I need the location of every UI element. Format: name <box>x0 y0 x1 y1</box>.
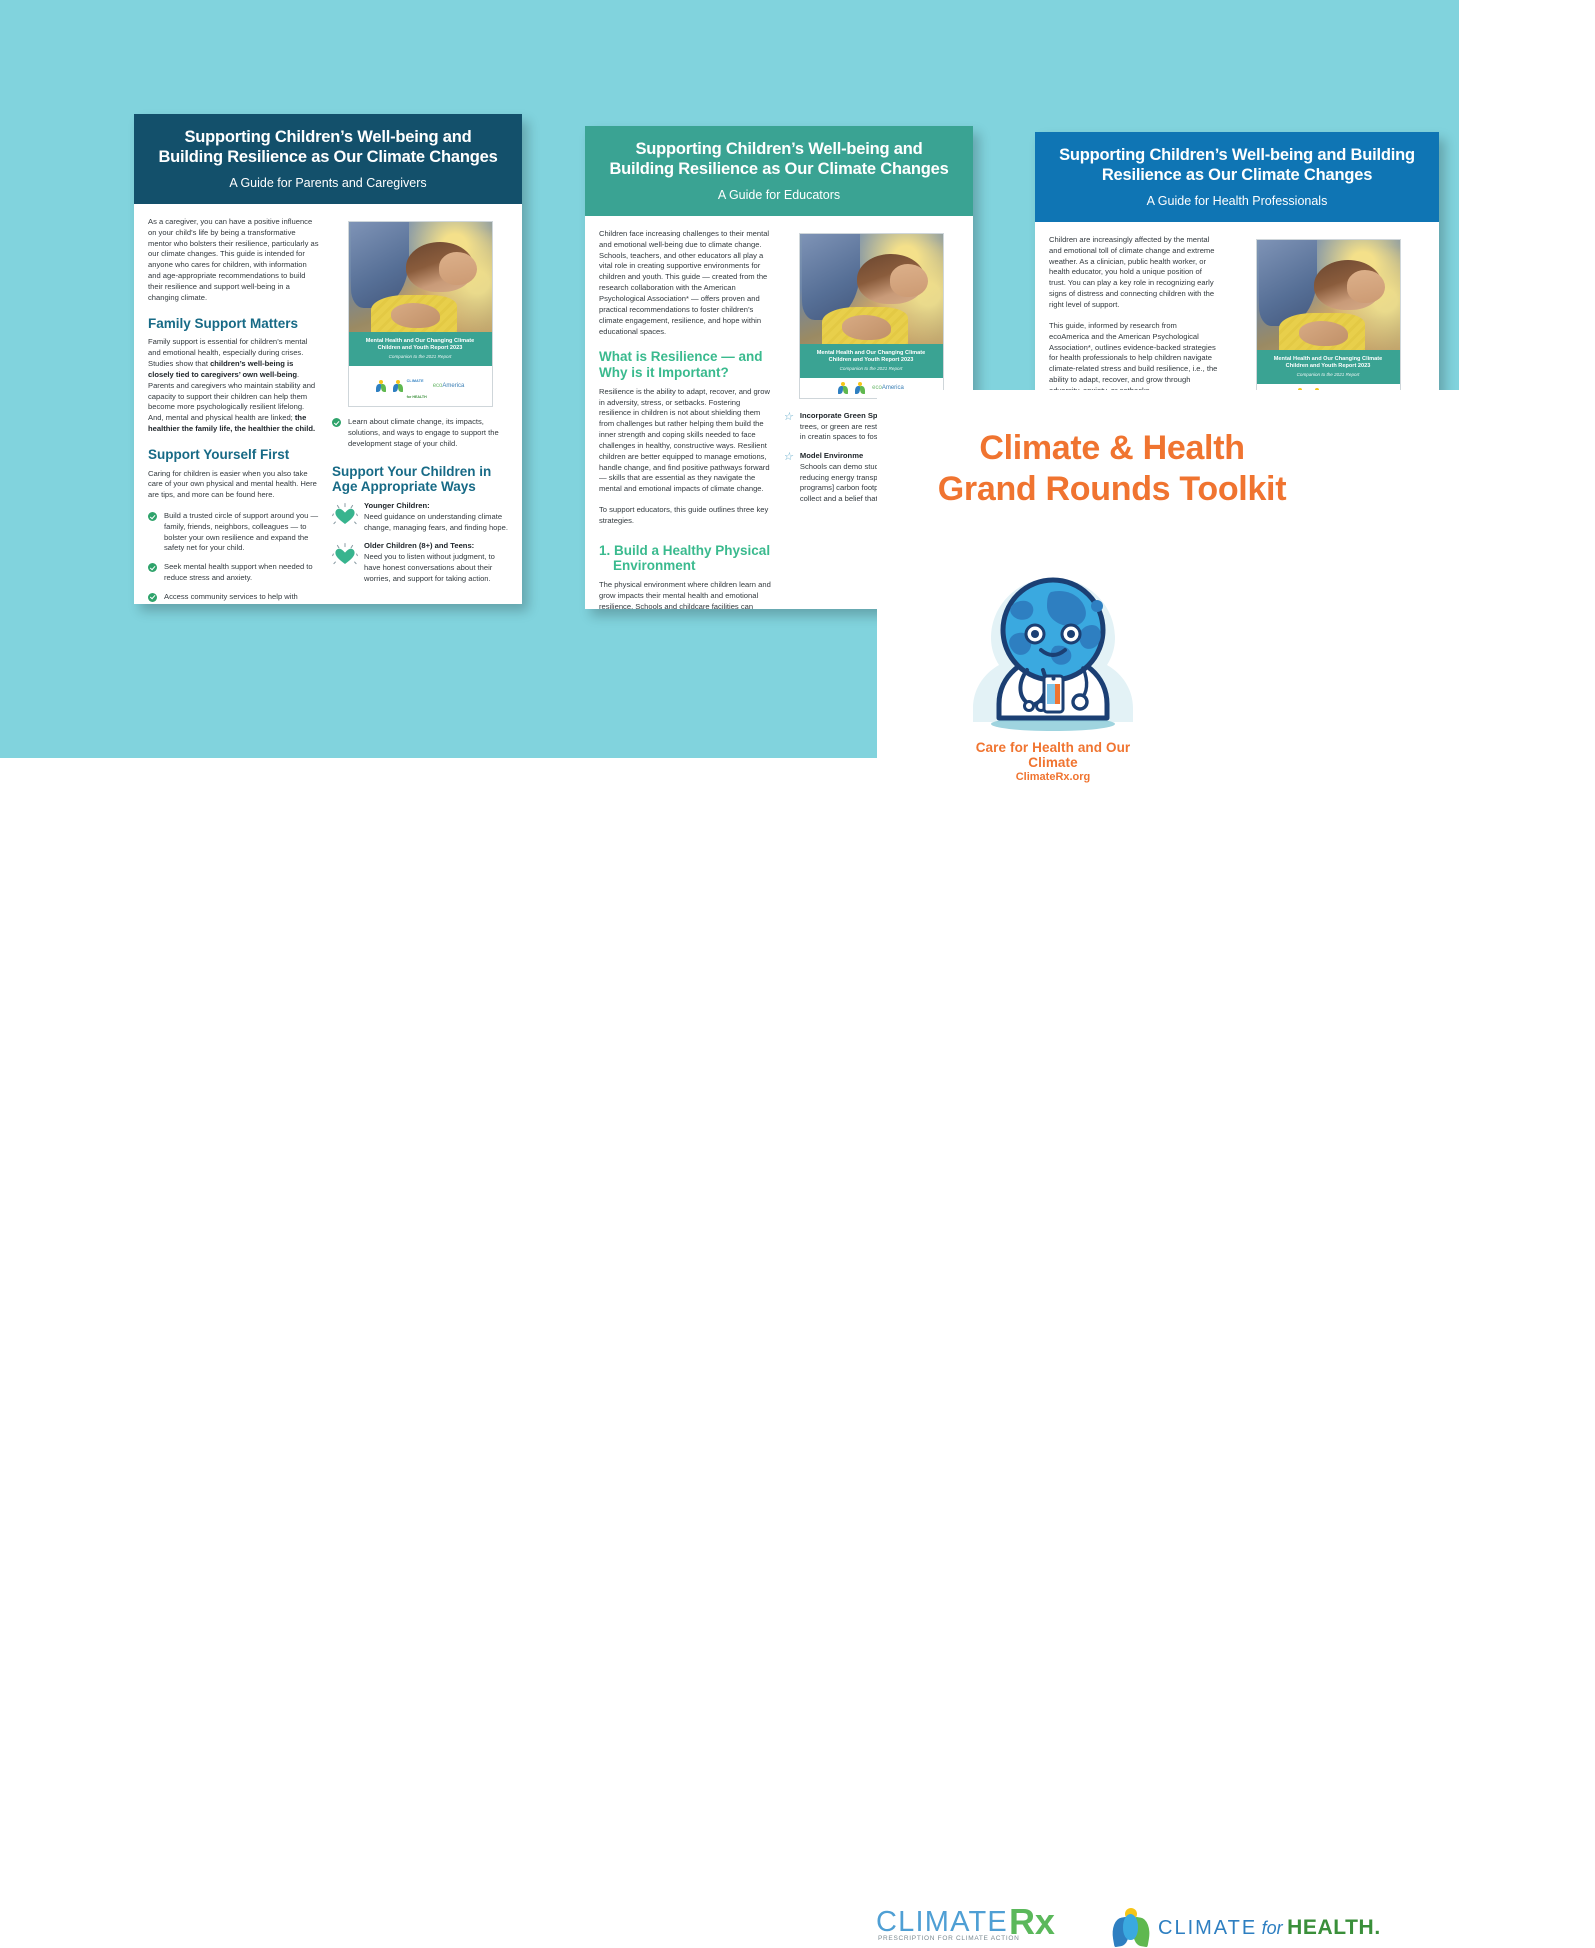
cfh-mini-b: for HEALTH <box>407 395 427 399</box>
doc2-s2-l2: Environment <box>599 558 696 574</box>
doc3-subtitle: A Guide for Health Professionals <box>1053 194 1421 209</box>
doc2-section1-heading: What is Resilience — and Why is it Impor… <box>599 349 771 380</box>
report-band-line3: Companion to the 2021 Report <box>353 354 488 359</box>
doc2-title: Supporting Children’s Well-being and Bui… <box>603 140 955 180</box>
doc1-bullet-list: Build a trusted circle of support around… <box>148 511 320 604</box>
report-cover-photo <box>800 234 943 344</box>
toolkit-title-line2: Grand Rounds Toolkit <box>877 469 1347 510</box>
report-cover-band: Mental Health and Our Changing Climate C… <box>349 332 492 366</box>
star-icon: ☆ <box>783 412 793 423</box>
earth-doctor-mascot: Care for Health and Our Climate ClimateR… <box>955 572 1151 794</box>
climate-for-health-wordmark: CLIMATE for HEALTH. <box>1158 1917 1381 1939</box>
doc1-section2-body: Caring for children is easier when you a… <box>148 469 320 502</box>
age-item-text: Need guidance on understanding climate c… <box>364 512 508 532</box>
doc2-subtitle: A Guide for Educators <box>603 188 955 203</box>
doc2-section2-body: The physical environment where children … <box>599 580 771 609</box>
list-item: Younger Children:Need guidance on unders… <box>332 501 508 533</box>
report-cover-band: Mental Health and Our Changing Climate C… <box>1257 350 1400 384</box>
age-item-label: Older Children (8+) and Teens: <box>364 541 474 550</box>
report-band-line2: Children and Youth Report 2023 <box>804 357 939 364</box>
toolkit-title-line1: Climate & Health <box>877 428 1347 469</box>
ecoamerica-logo-mini: ecoAmerica <box>433 383 465 389</box>
star-icon: ☆ <box>783 452 793 463</box>
report-cover-photo <box>1257 240 1400 350</box>
doc1-body: As a caregiver, you can have a positive … <box>134 204 522 604</box>
doc1-right-bullet-list: Learn about climate change, its impacts,… <box>332 417 508 449</box>
doc2-section2-heading: 1. Build a Healthy Physical Environment <box>599 543 771 574</box>
check-icon <box>148 512 157 523</box>
doc1-subtitle: A Guide for Parents and Caregivers <box>152 176 504 191</box>
doc3-title: Supporting Children’s Well-being and Bui… <box>1053 146 1421 186</box>
report-band-line3: Companion to the 2021 Report <box>1261 372 1396 377</box>
doc1-section3-heading: Support Your Children in Age Appropriate… <box>332 464 508 495</box>
doc1-intro: As a caregiver, you can have a positive … <box>148 217 320 304</box>
doc2-intro: Children face increasing challenges to t… <box>599 229 771 337</box>
list-item: Learn about climate change, its impacts,… <box>332 417 508 449</box>
doc1-footer-logos: CLIMATEfor HEALTH ecoAmerica <box>332 593 508 605</box>
doc3-intro: Children are increasingly affected by th… <box>1049 235 1219 311</box>
doc2-section1-body2: To support educators, this guide outline… <box>599 505 771 527</box>
climate-for-health-logo-mini: CLIMATEfor HEALTH <box>393 370 427 403</box>
eco-e1: eco <box>433 383 443 389</box>
doc2-s1-l1: What is Resilience — and <box>599 349 763 364</box>
document-card-parents-guide[interactable]: Supporting Children’s Well-being and Bui… <box>134 114 522 604</box>
doc3-header: Supporting Children’s Well-being and Bui… <box>1035 132 1439 222</box>
age-item-text: Need you to listen without judgment, to … <box>364 552 495 583</box>
doc1-s3-l1: Support Your Children in <box>332 464 491 479</box>
report-cover-band: Mental Health and Our Changing Climate C… <box>800 344 943 378</box>
climaterx-word: CLIMATE <box>876 1908 1008 1937</box>
shining-heart-icon <box>332 543 358 567</box>
report-band-line1: Mental Health and Our Changing Climate <box>804 350 939 357</box>
cfh-for: for <box>1262 1918 1283 1938</box>
climate-for-health-logo-mini <box>855 382 866 394</box>
climaterx-rx: Rx <box>1009 1907 1055 1937</box>
report-thumbnail[interactable]: Mental Health and Our Changing Climate C… <box>799 233 944 399</box>
apa-logo-mini <box>376 380 387 392</box>
doc2-s2-l1: 1. Build a Healthy Physical <box>599 543 770 558</box>
doc1-section2-heading: Support Yourself First <box>148 447 320 463</box>
apa-logo-mini <box>838 382 849 394</box>
doc2-s1-l2: Why is it Important? <box>599 365 729 380</box>
climate-for-health-logo: CLIMATEfor HEALTH <box>392 599 431 605</box>
doc2-section1-body: Resilience is the ability to adapt, reco… <box>599 387 771 495</box>
list-item: Access community services to help with p… <box>148 592 320 604</box>
shining-heart-icon <box>332 503 358 527</box>
doc1-title: Supporting Children’s Well-being and Bui… <box>152 128 504 168</box>
report-cover-photo <box>349 222 492 332</box>
cfh-line1: CLIMATE <box>1158 1917 1257 1939</box>
report-cover-footer-logos: CLIMATEfor HEALTH ecoAmerica <box>349 366 492 407</box>
toolkit-title: Climate & Health Grand Rounds Toolkit <box>877 428 1347 511</box>
report-band-line3: Companion to the 2021 Report <box>804 366 939 371</box>
list-item: Seek mental health support when needed t… <box>148 562 320 584</box>
report-band-line1: Mental Health and Our Changing Climate <box>353 338 488 345</box>
report-band-line2: Children and Youth Report 2023 <box>353 345 488 352</box>
doc1-header: Supporting Children’s Well-being and Bui… <box>134 114 522 204</box>
mascot-caption: Care for Health and Our Climate ClimateR… <box>955 740 1151 783</box>
climate-for-health-logo[interactable]: CLIMATE for HEALTH. <box>1112 1908 1381 1948</box>
list-item: Older Children (8+) and Teens:Need you t… <box>332 541 508 584</box>
doc3-intro2: This guide, informed by research from ec… <box>1049 321 1219 397</box>
check-icon <box>148 593 157 604</box>
doc1-s3-l2: Age Appropriate Ways <box>332 479 476 494</box>
check-icon <box>148 563 157 574</box>
climaterx-logo[interactable]: CLIMATE Rx PRESCRIPTION FOR CLIMATE ACTI… <box>876 1907 1055 1937</box>
eco-e2: America <box>442 383 464 389</box>
report-thumbnail[interactable]: Mental Health and Our Changing Climate C… <box>1256 239 1401 405</box>
climate-for-health-leaf-icon <box>1112 1908 1150 1948</box>
mascot-caption-line1: Care for Health and Our Climate <box>955 740 1151 770</box>
cfh-line2: HEALTH. <box>1287 1916 1381 1939</box>
report-thumbnail[interactable]: Mental Health and Our Changing Climate C… <box>348 221 493 407</box>
doc2-s2a: The physical environment where children … <box>599 580 771 609</box>
report-band-line1: Mental Health and Our Changing Climate <box>1261 356 1396 363</box>
list-item: Build a trusted circle of support around… <box>148 511 320 554</box>
climaterx-tagline: PRESCRIPTION FOR CLIMATE ACTION <box>878 1935 1019 1942</box>
doc2-header: Supporting Children’s Well-being and Bui… <box>585 126 973 216</box>
mascot-caption-line2: ClimateRx.org <box>955 771 1151 783</box>
right-item-label: Model Environme <box>800 451 863 460</box>
check-icon <box>332 418 341 429</box>
doc1-section1-body: Family support is essential for children… <box>148 337 320 435</box>
bottom-logos: CLIMATE Rx PRESCRIPTION FOR CLIMATE ACTI… <box>0 950 1595 1010</box>
doc1-section1-heading: Family Support Matters <box>148 316 320 332</box>
cfh-mini-a: CLIMATE <box>407 379 424 383</box>
report-band-line2: Children and Youth Report 2023 <box>1261 363 1396 370</box>
age-item-label: Younger Children: <box>364 501 430 510</box>
doc1-age-list: Younger Children:Need guidance on unders… <box>332 501 508 584</box>
